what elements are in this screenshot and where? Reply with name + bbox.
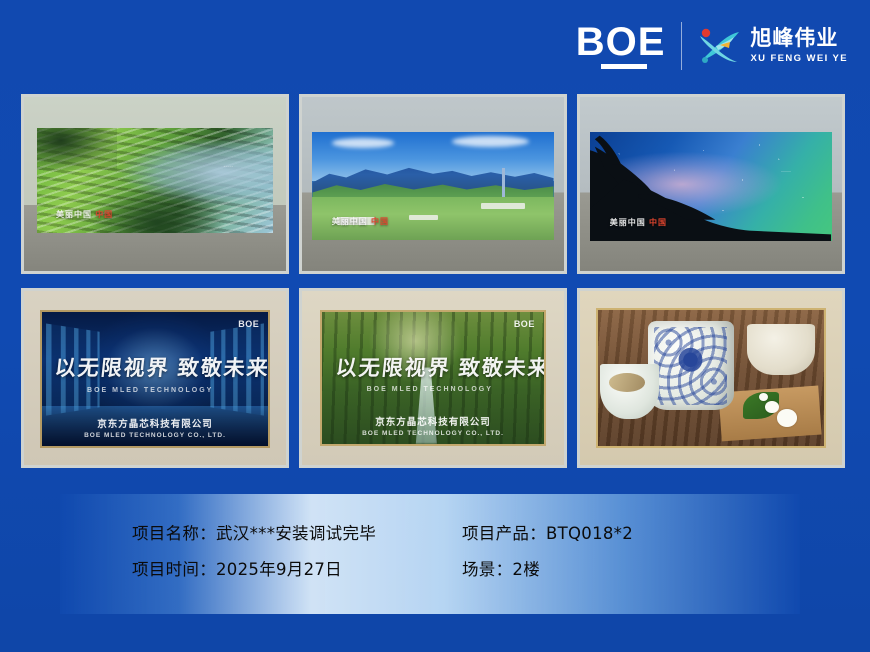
photo-card-3[interactable]: 美丽中国 中国 ····· (577, 94, 845, 274)
screen-boe-brand: BOE (238, 319, 259, 329)
photo-scene-terraces: 美丽中国 中国 ····· (24, 97, 286, 271)
info-value: 2025年9月27日 (216, 556, 342, 580)
info-project-name: 项目名称： 武汉***安装调试完毕 (132, 520, 462, 544)
watermark-text: 美丽中国 (56, 210, 92, 219)
photo-scene-galaxy: 美丽中国 中国 ····· (580, 97, 842, 271)
jasmine-flower (777, 409, 797, 427)
watermark-badge: 中国 (649, 218, 667, 227)
info-project-date: 项目时间： 2025年9月27日 (132, 556, 462, 580)
photo-scene-forest: BOE 以无限视界 致敬未来 BOE MLED TECHNOLOGY 京东方晶芯… (302, 291, 564, 465)
photo-scene-porcelain (580, 291, 842, 465)
photo-grid: 美丽中国 中国 ····· (21, 94, 851, 468)
watermark-text: 美丽中国 (332, 217, 368, 226)
poster-root: BOE 旭峰伟业 XU FENG WEI YE (0, 0, 870, 652)
partner-name-en: XU FENG WEI YE (750, 53, 848, 64)
info-scene: 场景： 2楼 (462, 556, 540, 580)
info-project-product: 项目产品： BTQ018*2 (462, 520, 633, 544)
screen-boe-brand: BOE (514, 319, 535, 329)
jasmine-bud (759, 393, 768, 401)
screen-watermark: 美丽中国 中国 (56, 209, 113, 220)
info-row: 项目名称： 武汉***安装调试完毕 项目产品： BTQ018*2 (132, 520, 800, 544)
info-row: 项目时间： 2025年9月27日 场景： 2楼 (132, 556, 800, 580)
porcelain-jar (648, 321, 734, 410)
screen-company-en: BOE MLED TECHNOLOGY CO., LTD. (322, 430, 543, 437)
screen-vertical-caption: ····· (221, 164, 235, 172)
cloud-icon (452, 136, 529, 147)
led-screen (596, 308, 827, 447)
photo-card-5[interactable]: BOE 以无限视界 致敬未来 BOE MLED TECHNOLOGY 京东方晶芯… (299, 288, 567, 468)
village-cluster (409, 215, 438, 220)
info-panel: 项目名称： 武汉***安装调试完毕 项目产品： BTQ018*2 项目时间： 2… (60, 494, 800, 614)
screen-company-cn: 京东方晶芯科技有限公司 (42, 416, 269, 430)
header: BOE 旭峰伟业 XU FENG WEI YE (0, 0, 870, 92)
cloud-icon (332, 138, 395, 148)
photo-card-2[interactable]: 美丽中国 中国 (299, 94, 567, 274)
screen-watermark: 美丽中国 中国 (332, 216, 389, 227)
photo-scene-boe-corridor: BOE 以无限视界 致敬未来 BOE MLED TECHNOLOGY 京东方晶芯… (24, 291, 286, 465)
partner-logo: 旭峰伟业 XU FENG WEI YE (696, 24, 848, 68)
watermark-badge: 中国 (95, 210, 113, 219)
photo-scene-mountains: 美丽中国 中国 (302, 97, 564, 271)
photo-card-6[interactable] (577, 288, 845, 468)
partner-text: 旭峰伟业 XU FENG WEI YE (750, 28, 848, 64)
boe-logo: BOE (576, 23, 666, 69)
logo-bar: BOE 旭峰伟业 XU FENG WEI YE (576, 18, 848, 74)
led-screen: 美丽中国 中国 (312, 132, 553, 240)
boe-underline-icon (601, 64, 647, 69)
partner-name-cn: 旭峰伟业 (750, 28, 848, 50)
tea-leaves (609, 373, 645, 392)
screen-slogan-sub: BOE MLED TECHNOLOGY (367, 386, 493, 393)
watermark-text: 美丽中国 (610, 218, 646, 227)
screen-slogan: 以无限视界 致敬未来 (334, 352, 532, 382)
screen-watermark: 美丽中国 中国 (610, 217, 667, 228)
info-label: 项目产品： (462, 520, 546, 544)
led-screen: 美丽中国 中国 ····· (37, 128, 273, 232)
blue-floral-pattern (654, 327, 726, 406)
info-value: 2楼 (512, 556, 540, 580)
terrace-shadow (37, 128, 117, 170)
screen-vertical-caption: ····· (779, 169, 793, 177)
info-value: 武汉***安装调试完毕 (216, 520, 376, 544)
info-label: 项目名称： (132, 520, 216, 544)
info-value: BTQ018*2 (546, 524, 633, 543)
info-label: 项目时间： (132, 556, 216, 580)
screen-company-en: BOE MLED TECHNOLOGY CO., LTD. (42, 432, 269, 439)
boe-logo-text: BOE (576, 23, 666, 61)
crane-bird-mark-icon (696, 24, 742, 68)
info-label: 场景： (462, 556, 512, 580)
led-screen: 美丽中国 中国 ····· (590, 132, 831, 242)
village-cluster (481, 203, 524, 209)
info-panel-content: 项目名称： 武汉***安装调试完毕 项目产品： BTQ018*2 项目时间： 2… (60, 494, 800, 614)
logo-divider-icon (681, 22, 682, 70)
led-screen: BOE 以无限视界 致敬未来 BOE MLED TECHNOLOGY 京东方晶芯… (320, 310, 545, 446)
photo-card-4[interactable]: BOE 以无限视界 致敬未来 BOE MLED TECHNOLOGY 京东方晶芯… (21, 288, 289, 468)
photo-card-1[interactable]: 美丽中国 中国 ····· (21, 94, 289, 274)
screen-slogan: 以无限视界 致敬未来 (54, 352, 257, 382)
screen-slogan-sub: BOE MLED TECHNOLOGY (87, 387, 213, 394)
watermark-badge: 中国 (371, 217, 389, 226)
transmission-tower (502, 168, 505, 196)
led-screen: BOE 以无限视界 致敬未来 BOE MLED TECHNOLOGY 京东方晶芯… (40, 310, 271, 447)
screen-company-cn: 京东方晶芯科技有限公司 (322, 414, 543, 428)
ceramic-bowl-large (747, 324, 815, 375)
